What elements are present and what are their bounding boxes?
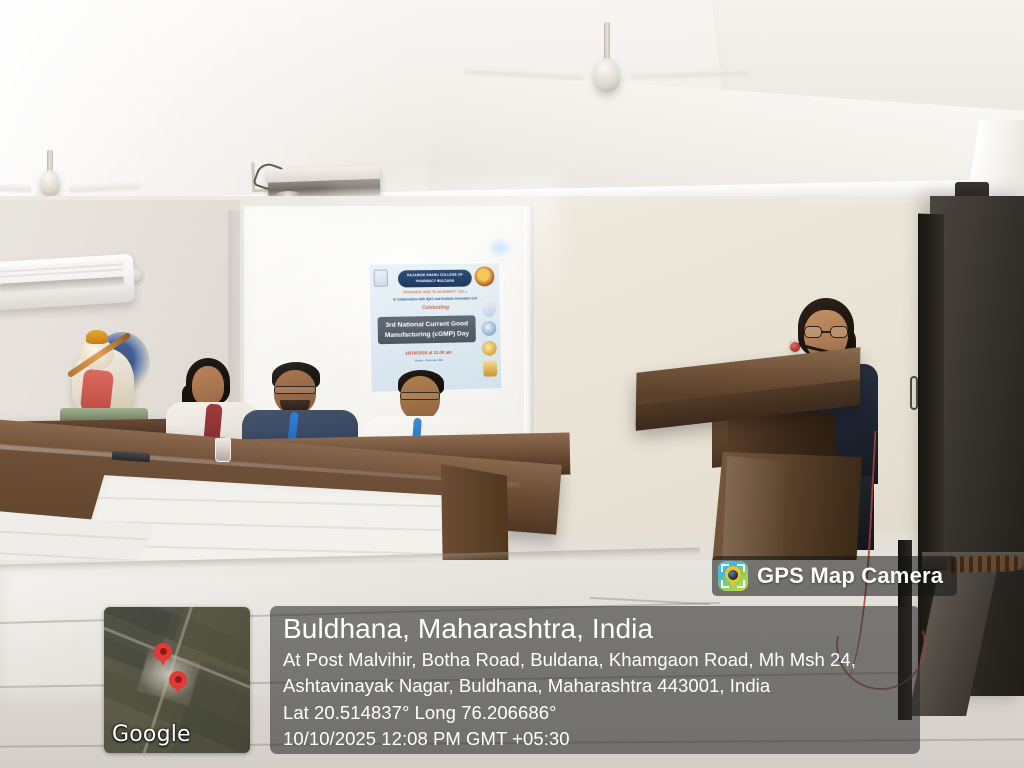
microphone-icon <box>790 342 800 352</box>
water-glass <box>215 438 231 462</box>
map-pin-icon <box>169 671 187 689</box>
eyeglasses-icon <box>804 326 848 338</box>
ceiling-fan <box>572 22 642 132</box>
slide-institute-line2: PHARMACY BULDANA <box>416 278 455 284</box>
slide-event-line2: Manufacturing (cGMP) Day <box>381 329 473 340</box>
idol-crown <box>86 330 108 344</box>
coordinates: Lat 20.514837° Long 76.206686° <box>283 700 920 726</box>
slide-badge-icon <box>483 361 497 377</box>
map-pin-hole <box>160 648 167 655</box>
eyeglasses-icon <box>400 392 440 400</box>
glasses-bridge <box>822 331 830 333</box>
fan-downrod <box>47 150 53 172</box>
fan-blade <box>0 183 32 193</box>
slide-association: In Collaboration with IQAC and Institute… <box>370 296 500 302</box>
lens-left <box>804 326 822 338</box>
projector-hotspot <box>487 238 513 258</box>
cabinet-handle <box>910 376 918 410</box>
slide-badge-icon <box>482 299 496 317</box>
ganesha-idol <box>52 330 156 426</box>
gps-app-name: GPS Map Camera <box>757 563 943 589</box>
idol-sash <box>80 369 114 414</box>
slide-header: RAJARSHI SHAHU COLLEGE OF PHARMACY BULDA… <box>369 266 499 291</box>
slide-celebrating: Celebrating <box>370 304 500 312</box>
face <box>192 366 224 406</box>
map-pin-hole <box>175 676 182 683</box>
location-title: Buldhana, Maharashtra, India <box>283 612 920 645</box>
google-logo: Google <box>112 722 191 747</box>
gps-info-panel: Buldhana, Maharashtra, India At Post Mal… <box>270 606 920 754</box>
slide-badge-icon <box>482 341 497 356</box>
address-line-2: Ashtavinayak Nagar, Buldhana, Maharashtr… <box>283 673 920 699</box>
air-conditioner <box>0 254 135 310</box>
slide-date: 10/10/2025 at 11.00 am <box>371 349 485 357</box>
slide-venue: Venue : Seminar Hall <box>371 357 485 364</box>
map-pin-icon <box>154 643 172 661</box>
slide-cell-label: TRAINING AND PLACEMENT CELL <box>370 289 500 295</box>
fan-motor-housing <box>40 170 60 196</box>
gps-map-thumbnail[interactable]: Google <box>104 607 250 753</box>
lens-right <box>830 326 848 338</box>
timestamp: 10/10/2025 12:08 PM GMT +05:30 <box>283 726 920 752</box>
eyeglasses-icon <box>274 386 316 394</box>
slide-institute-band: RAJARSHI SHAHU COLLEGE OF PHARMACY BULDA… <box>398 270 472 288</box>
viewfinder-bracket-icon <box>737 580 745 588</box>
gps-map-camera-badge: GPS Map Camera <box>712 556 957 596</box>
fan-downrod <box>604 22 610 62</box>
gps-map-camera-icon <box>718 561 748 591</box>
ac-vent <box>0 276 124 292</box>
fan-motor-housing <box>594 58 620 92</box>
slide-event-banner: 3rd National Current Good Manufacturing … <box>378 315 476 344</box>
beaded-garland <box>946 555 1022 573</box>
address-line-1: At Post Malvihir, Botha Road, Buldana, K… <box>283 647 920 673</box>
slide-badge-icon <box>481 321 496 336</box>
map-pin-center <box>728 570 738 580</box>
photo-screenshot: RAJARSHI SHAHU COLLEGE OF PHARMACY BULDA… <box>0 0 1024 768</box>
